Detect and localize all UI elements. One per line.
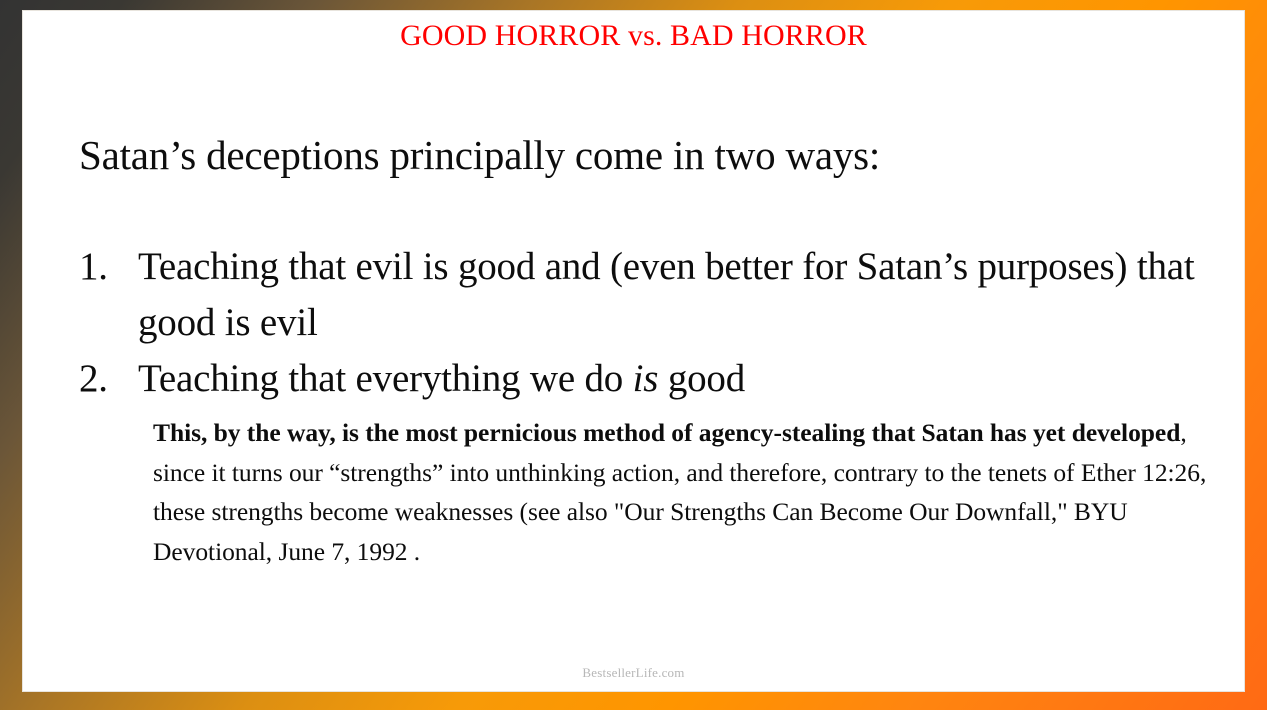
list-item-2-text-after-italic: good — [658, 357, 745, 400]
list-item-2-text: Teaching that everything we do is good — [138, 351, 1220, 407]
slide-body: Satan’s deceptions principally come in t… — [79, 131, 1220, 571]
slide-title-bar: GOOD HORROR vs. BAD HORROR — [23, 19, 1244, 53]
lead-statement: Satan’s deceptions principally come in t… — [79, 131, 1220, 179]
list-item-2-text-before-italic: Teaching that everything we do — [138, 357, 633, 400]
sub-note-bold-lead: This, by the way, is the most pernicious… — [153, 418, 1180, 447]
sub-note-paragraph: This, by the way, is the most pernicious… — [153, 413, 1220, 571]
list-item-2: 2. Teaching that everything we do is goo… — [79, 351, 1220, 407]
slide-frame: GOOD HORROR vs. BAD HORROR Satan’s decep… — [0, 0, 1267, 710]
page-title: GOOD HORROR vs. BAD HORROR — [400, 19, 867, 53]
list-item-2-emphasis: is — [633, 357, 659, 400]
list-item-1: 1. Teaching that evil is good and (even … — [79, 239, 1220, 351]
watermark-text: BestsellerLife.com — [23, 665, 1244, 681]
list-item-2-marker: 2. — [79, 351, 121, 407]
slide-canvas: GOOD HORROR vs. BAD HORROR Satan’s decep… — [22, 10, 1245, 692]
numbered-list: 1. Teaching that evil is good and (even … — [79, 239, 1220, 407]
list-item-1-marker: 1. — [79, 239, 121, 295]
list-item-1-text: Teaching that evil is good and (even bet… — [138, 239, 1220, 351]
